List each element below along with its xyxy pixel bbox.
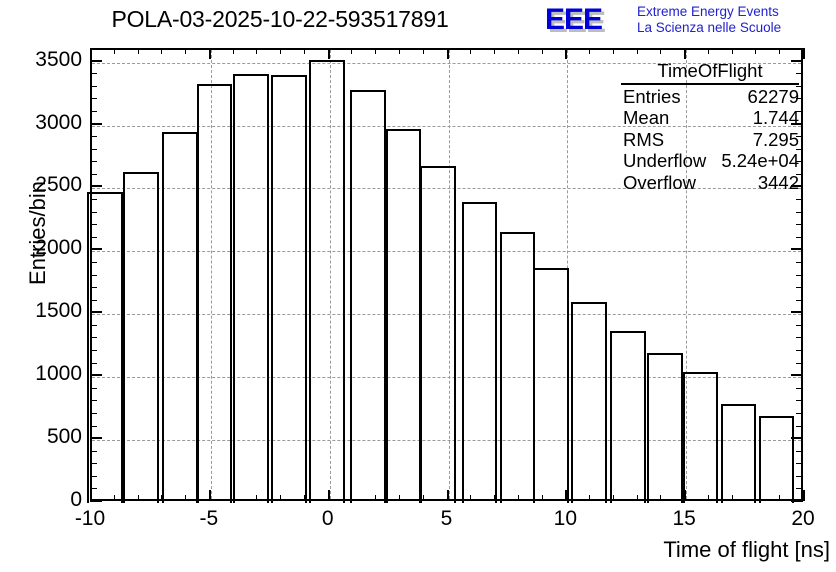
histogram-bar — [162, 132, 198, 503]
y-tick-label: 2000 — [4, 236, 82, 260]
axis-tick — [755, 48, 756, 54]
axis-tick — [90, 174, 97, 175]
x-tick-label: 15 — [644, 507, 724, 531]
axis-tick — [328, 490, 330, 501]
histogram-bar — [610, 331, 646, 503]
axis-tick — [470, 495, 471, 501]
axis-tick — [161, 48, 162, 54]
axis-tick — [90, 98, 97, 99]
axis-tick — [796, 463, 803, 464]
axis-tick — [791, 248, 803, 250]
axis-tick — [90, 199, 97, 200]
axis-tick — [796, 476, 803, 477]
axis-tick — [796, 275, 803, 276]
axis-tick — [90, 300, 97, 301]
axis-tick — [779, 48, 780, 54]
axis-tick — [209, 490, 211, 501]
stats-row-value: 62279 — [748, 86, 799, 108]
stats-row-value: 3442 — [758, 172, 799, 194]
axis-tick — [90, 149, 97, 150]
stats-row-key: Entries — [623, 86, 681, 108]
eee-logo: EEE Extreme Energy Events La Scienza nel… — [545, 4, 835, 38]
axis-tick — [90, 48, 97, 49]
axis-tick — [90, 350, 97, 351]
axis-tick — [90, 248, 102, 250]
axis-tick — [732, 495, 733, 501]
stats-row-key: Underflow — [623, 150, 706, 172]
histogram-bar — [233, 74, 269, 503]
page-title: POLA-03-2025-10-22-593517891 — [0, 6, 560, 33]
axis-tick — [90, 488, 97, 489]
axis-tick — [90, 463, 97, 464]
stats-row: RMS7.295 — [617, 129, 803, 151]
x-tick-label: 0 — [288, 507, 368, 531]
axis-tick — [637, 495, 638, 501]
axis-tick — [399, 495, 400, 501]
axis-tick — [90, 224, 97, 225]
axis-tick — [90, 388, 97, 389]
axis-tick — [185, 495, 186, 501]
axis-tick — [304, 48, 305, 54]
axis-tick — [280, 48, 281, 54]
y-tick-label: 3500 — [4, 48, 82, 72]
y-tick-label: 1500 — [4, 299, 82, 323]
axis-tick — [684, 48, 686, 59]
axis-tick — [90, 136, 97, 137]
axis-tick — [90, 337, 97, 338]
axis-tick — [114, 495, 115, 501]
axis-tick — [90, 451, 97, 452]
axis-tick — [708, 48, 709, 54]
axis-tick — [233, 495, 234, 501]
histogram-bar — [533, 268, 569, 503]
axis-tick — [90, 212, 97, 213]
axis-tick — [375, 495, 376, 501]
axis-tick — [90, 363, 97, 364]
axis-tick — [494, 495, 495, 501]
axis-tick — [518, 48, 519, 54]
axis-tick — [161, 495, 162, 501]
histogram-bar — [309, 60, 345, 503]
axis-tick — [90, 400, 97, 401]
axis-tick — [233, 48, 234, 54]
stats-rows: Entries62279Mean1.744RMS7.295Underflow5.… — [617, 86, 803, 194]
axis-tick — [90, 500, 102, 502]
axis-tick — [796, 388, 803, 389]
axis-tick — [660, 48, 661, 54]
histogram-bar — [271, 75, 307, 503]
axis-tick — [90, 311, 102, 313]
root-canvas: POLA-03-2025-10-22-593517891 EEE Extreme… — [0, 0, 836, 572]
stats-row: Entries62279 — [617, 86, 803, 108]
axis-tick — [791, 500, 803, 502]
histogram-bar — [500, 232, 536, 503]
histogram-bar — [350, 90, 386, 503]
stats-row-key: Overflow — [623, 172, 696, 194]
axis-tick — [90, 185, 102, 187]
axis-tick — [138, 48, 139, 54]
y-tick-label: 2500 — [4, 173, 82, 197]
x-tick-label: 5 — [407, 507, 487, 531]
axis-tick — [565, 490, 567, 501]
histogram-bar — [647, 353, 683, 503]
axis-tick — [796, 363, 803, 364]
histogram-bar — [683, 372, 719, 503]
axis-tick — [755, 495, 756, 501]
axis-tick — [351, 48, 352, 54]
axis-tick — [90, 123, 102, 125]
axis-tick — [90, 262, 97, 263]
stats-row-key: Mean — [623, 107, 669, 129]
axis-tick — [796, 426, 803, 427]
axis-tick — [589, 495, 590, 501]
axis-tick — [565, 48, 567, 59]
axis-tick — [796, 451, 803, 452]
axis-tick — [90, 275, 97, 276]
x-tick-label: 10 — [525, 507, 605, 531]
axis-tick — [328, 48, 330, 59]
histogram-bar — [386, 129, 422, 503]
eee-logo-text: Extreme Energy Events La Scienza nelle S… — [637, 4, 781, 36]
x-axis-title: Time of flight [ns] — [440, 537, 830, 563]
axis-tick — [185, 48, 186, 54]
eee-logo-line-1: Extreme Energy Events — [637, 4, 781, 20]
axis-tick — [399, 48, 400, 54]
axis-tick — [796, 350, 803, 351]
axis-tick — [796, 413, 803, 414]
eee-logo-line-2: La Scienza nelle Scuole — [637, 20, 781, 36]
histogram-bar — [197, 84, 233, 503]
x-tick-label: -5 — [169, 507, 249, 531]
axis-tick — [796, 337, 803, 338]
axis-tick — [708, 495, 709, 501]
axis-tick — [803, 48, 805, 59]
axis-tick — [589, 48, 590, 54]
axis-tick — [90, 111, 97, 112]
axis-tick — [518, 495, 519, 501]
axis-tick — [351, 495, 352, 501]
axis-tick — [796, 212, 803, 213]
axis-tick — [90, 426, 97, 427]
axis-tick — [90, 73, 97, 74]
x-tick-label: 20 — [763, 507, 836, 531]
axis-tick — [791, 311, 803, 313]
axis-tick — [732, 48, 733, 54]
axis-tick — [90, 237, 97, 238]
y-tick-label: 3000 — [4, 111, 82, 135]
axis-tick — [613, 48, 614, 54]
axis-tick — [803, 490, 805, 501]
axis-tick — [791, 437, 803, 439]
axis-tick — [447, 490, 449, 501]
axis-tick — [280, 495, 281, 501]
axis-tick — [796, 262, 803, 263]
axis-tick — [90, 374, 102, 376]
stats-row: Mean1.744 — [617, 107, 803, 129]
axis-tick — [375, 48, 376, 54]
axis-tick — [637, 48, 638, 54]
eee-logo-mark: EEE — [545, 5, 602, 35]
axis-tick — [796, 400, 803, 401]
axis-tick — [114, 48, 115, 54]
y-tick-label: 0 — [4, 488, 82, 512]
axis-tick — [90, 413, 97, 414]
axis-tick — [494, 48, 495, 54]
axis-tick — [791, 374, 803, 376]
axis-tick — [423, 48, 424, 54]
axis-tick — [796, 224, 803, 225]
axis-tick — [796, 300, 803, 301]
stats-box: TimeOfFlight Entries62279Mean1.744RMS7.2… — [617, 60, 803, 193]
axis-tick — [90, 48, 92, 59]
axis-tick — [542, 48, 543, 54]
histogram-bar — [87, 192, 123, 503]
stats-row: Overflow3442 — [617, 172, 803, 194]
axis-tick — [796, 325, 803, 326]
axis-tick — [256, 495, 257, 501]
axis-tick — [542, 495, 543, 501]
histogram-bar — [420, 166, 456, 503]
axis-tick — [796, 237, 803, 238]
axis-tick — [90, 437, 102, 439]
axis-tick — [90, 86, 97, 87]
axis-tick — [796, 199, 803, 200]
axis-tick — [304, 495, 305, 501]
stats-box-title: TimeOfFlight — [621, 60, 799, 85]
axis-tick — [423, 495, 424, 501]
y-tick-label: 500 — [4, 425, 82, 449]
stats-row: Underflow5.24e+04 — [617, 150, 803, 172]
axis-tick — [447, 48, 449, 59]
axis-tick — [209, 48, 211, 59]
stats-row-value: 5.24e+04 — [721, 150, 799, 172]
y-axis-title: Entries/bin — [25, 103, 51, 363]
histogram-bar — [123, 172, 159, 503]
axis-tick — [90, 60, 102, 62]
axis-tick — [613, 495, 614, 501]
axis-tick — [796, 48, 803, 49]
axis-tick — [90, 287, 97, 288]
axis-tick — [138, 495, 139, 501]
stats-row-value: 7.295 — [753, 129, 799, 151]
y-tick-label: 1000 — [4, 362, 82, 386]
axis-tick — [470, 48, 471, 54]
histogram-bar — [571, 302, 607, 503]
axis-tick — [796, 287, 803, 288]
axis-tick — [256, 48, 257, 54]
stats-row-key: RMS — [623, 129, 664, 151]
stats-row-value: 1.744 — [753, 107, 799, 129]
axis-tick — [684, 490, 686, 501]
histogram-bar — [721, 404, 757, 503]
axis-tick — [779, 495, 780, 501]
axis-tick — [90, 476, 97, 477]
axis-tick — [90, 161, 97, 162]
histogram-bar — [759, 416, 795, 503]
axis-tick — [796, 488, 803, 489]
axis-tick — [660, 495, 661, 501]
axis-tick — [90, 325, 97, 326]
histogram-bar — [462, 202, 498, 503]
